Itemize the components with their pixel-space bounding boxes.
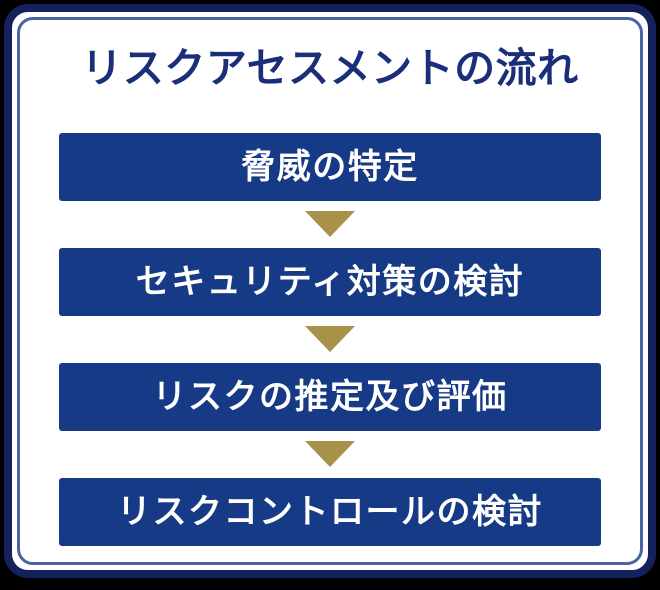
flow-step-4[interactable]: リスクコントロールの検討	[59, 478, 601, 546]
triangle-down-icon	[305, 211, 355, 237]
page-title: リスクアセスメントの流れ	[12, 48, 648, 89]
triangle-down-icon	[305, 326, 355, 352]
flow-step-2-label: セキュリティ対策の検討	[136, 265, 524, 299]
flow-step-4-label: リスクコントロールの検討	[117, 495, 543, 529]
flow-step-1-label: 脅威の特定	[241, 150, 419, 184]
flow-connector-3	[59, 431, 601, 478]
flow-connector-1	[59, 201, 601, 248]
triangle-down-icon	[305, 441, 355, 467]
flow-step-1[interactable]: 脅威の特定	[59, 133, 601, 201]
flow-connector-2	[59, 316, 601, 363]
flow-step-3[interactable]: リスクの推定及び評価	[59, 363, 601, 431]
flow-chain: 脅威の特定 セキュリティ対策の検討 リスクの推定及び評価 リスクコントロールの検…	[12, 133, 648, 546]
flow-card-frame: リスクアセスメントの流れ 脅威の特定 セキュリティ対策の検討 リスクの推定及び評…	[4, 4, 656, 578]
flow-step-2[interactable]: セキュリティ対策の検討	[59, 248, 601, 316]
flow-card-body: リスクアセスメントの流れ 脅威の特定 セキュリティ対策の検討 リスクの推定及び評…	[12, 12, 648, 570]
flow-step-3-label: リスクの推定及び評価	[153, 380, 508, 414]
